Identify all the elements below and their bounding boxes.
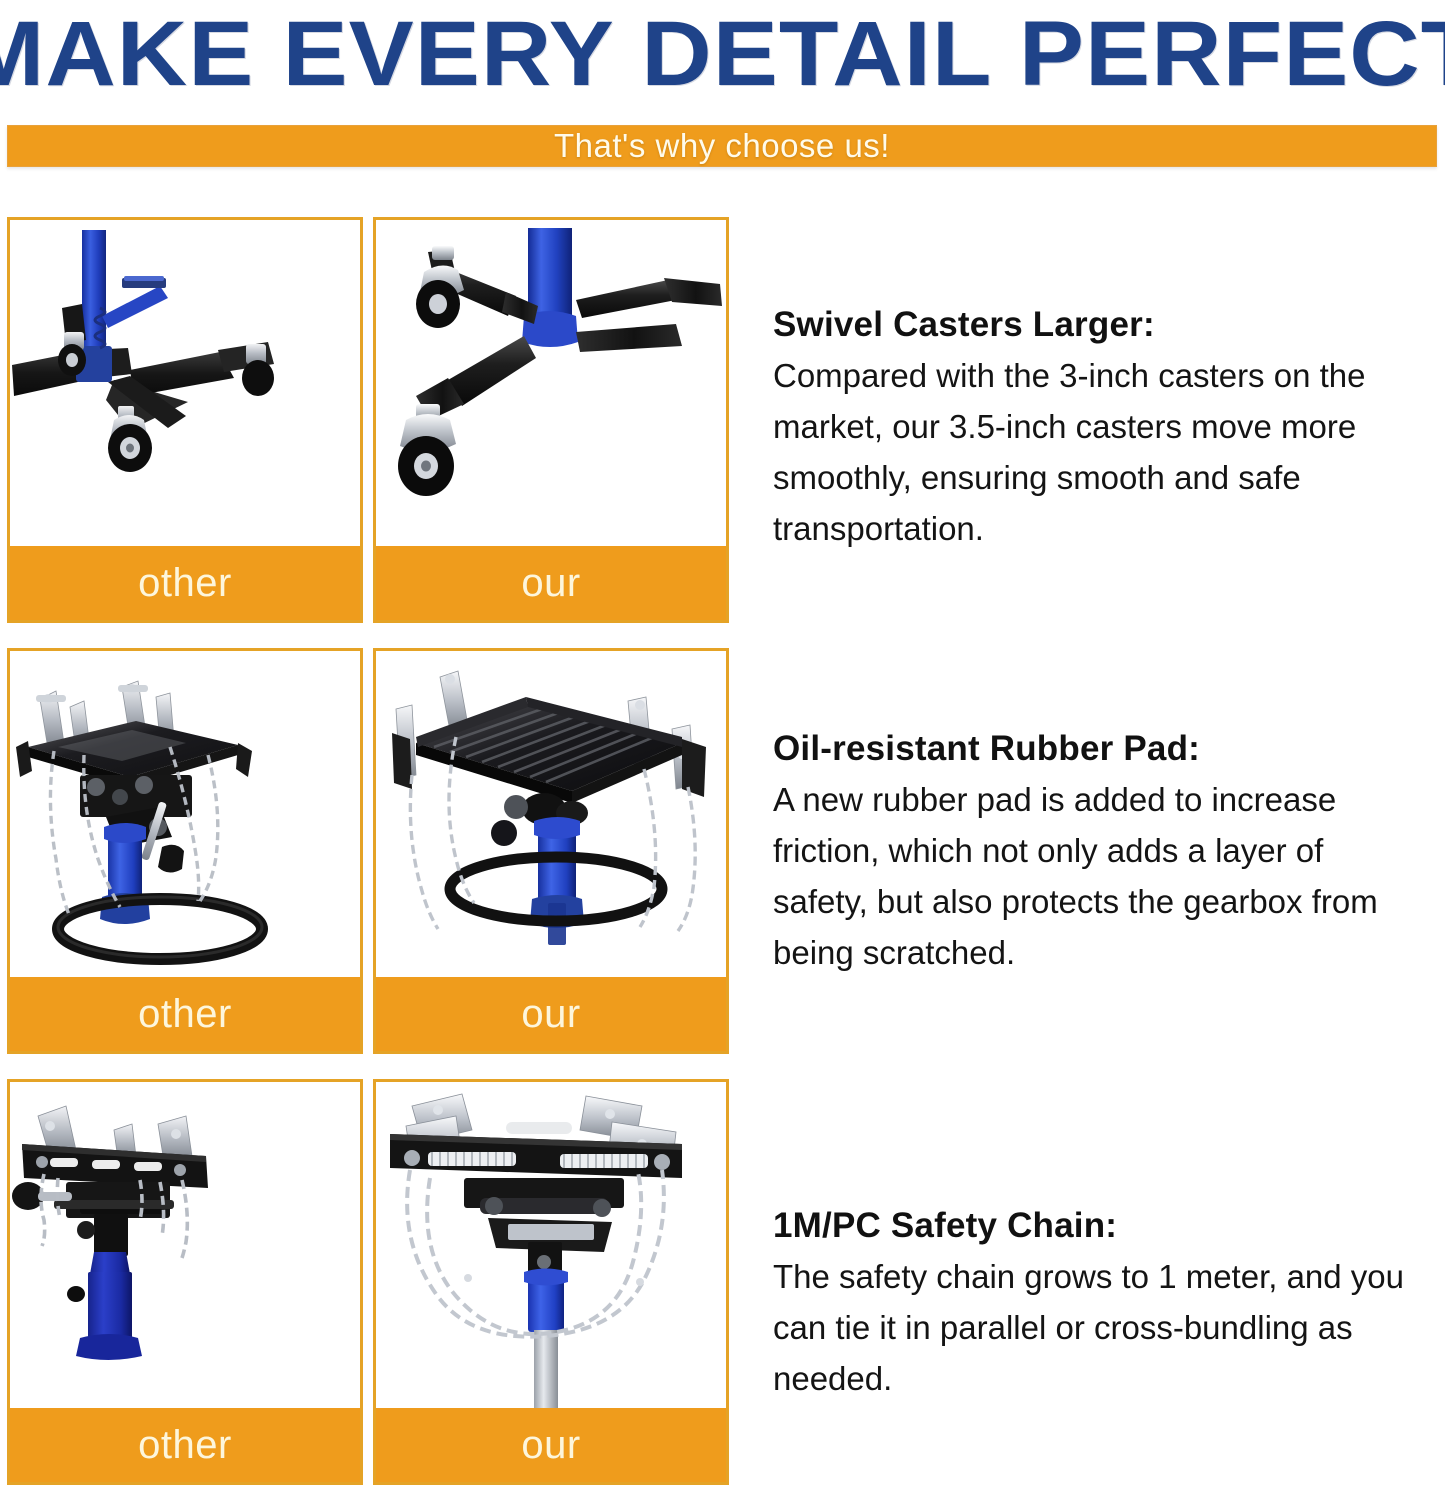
panel-other-chain: other [7,1079,363,1485]
caption-label: other [138,562,232,604]
feature-row-safety-chain: other [0,1079,1445,1485]
panel-other-casters: other [7,217,363,623]
features-section: other [0,188,1445,1485]
photo-jack-saddle-ribbed-rubber-our [376,651,726,977]
subtitle-text: That's why choose us! [554,129,890,163]
feature-text-safety-chain: 1M/PC Safety Chain: The safety chain gro… [735,1079,1445,1485]
photo-transmission-jack-base-other [10,220,360,546]
caption-other: other [10,1408,360,1482]
photo-saddle-long-chain-our [376,1082,726,1408]
caption-our: our [376,977,726,1051]
feature-title: Oil-resistant Rubber Pad: [773,724,1417,774]
caption-other: other [10,546,360,620]
photo-transmission-jack-base-our [376,220,726,546]
feature-title: Swivel Casters Larger: [773,300,1417,350]
caption-other: other [10,977,360,1051]
feature-body: The safety chain grows to 1 meter, and y… [773,1251,1413,1404]
caption-our: our [376,546,726,620]
caption-label: our [521,1424,580,1466]
feature-text-swivel-casters: Swivel Casters Larger: Compared with the… [735,217,1445,623]
panel-other-saddle: other [7,648,363,1054]
caption-label: other [138,993,232,1035]
comparison-panels: other [0,648,735,1054]
comparison-panels: other [0,217,735,623]
page-headline: MAKE EVERY DETAIL PERFECT [0,0,1445,108]
feature-body: A new rubber pad is added to increase fr… [773,774,1413,978]
caption-label: other [138,1424,232,1466]
caption-label: our [521,993,580,1035]
feature-body: Compared with the 3-inch casters on the … [773,350,1413,554]
comparison-panels: other [0,1079,735,1485]
feature-text-rubber-pad: Oil-resistant Rubber Pad: A new rubber p… [735,648,1445,1054]
panel-our-casters: our [373,217,729,623]
panel-our-chain: our [373,1079,729,1485]
feature-row-swivel-casters: other [0,217,1445,623]
feature-title: 1M/PC Safety Chain: [773,1201,1417,1251]
subtitle-banner: That's why choose us! [7,125,1437,167]
feature-row-rubber-pad: other [0,648,1445,1054]
caption-our: our [376,1408,726,1482]
photo-saddle-short-chain-other [10,1082,360,1408]
caption-label: our [521,562,580,604]
photo-jack-saddle-plain-other [10,651,360,977]
headline-text: MAKE EVERY DETAIL PERFECT [0,6,1445,102]
panel-our-saddle: our [373,648,729,1054]
